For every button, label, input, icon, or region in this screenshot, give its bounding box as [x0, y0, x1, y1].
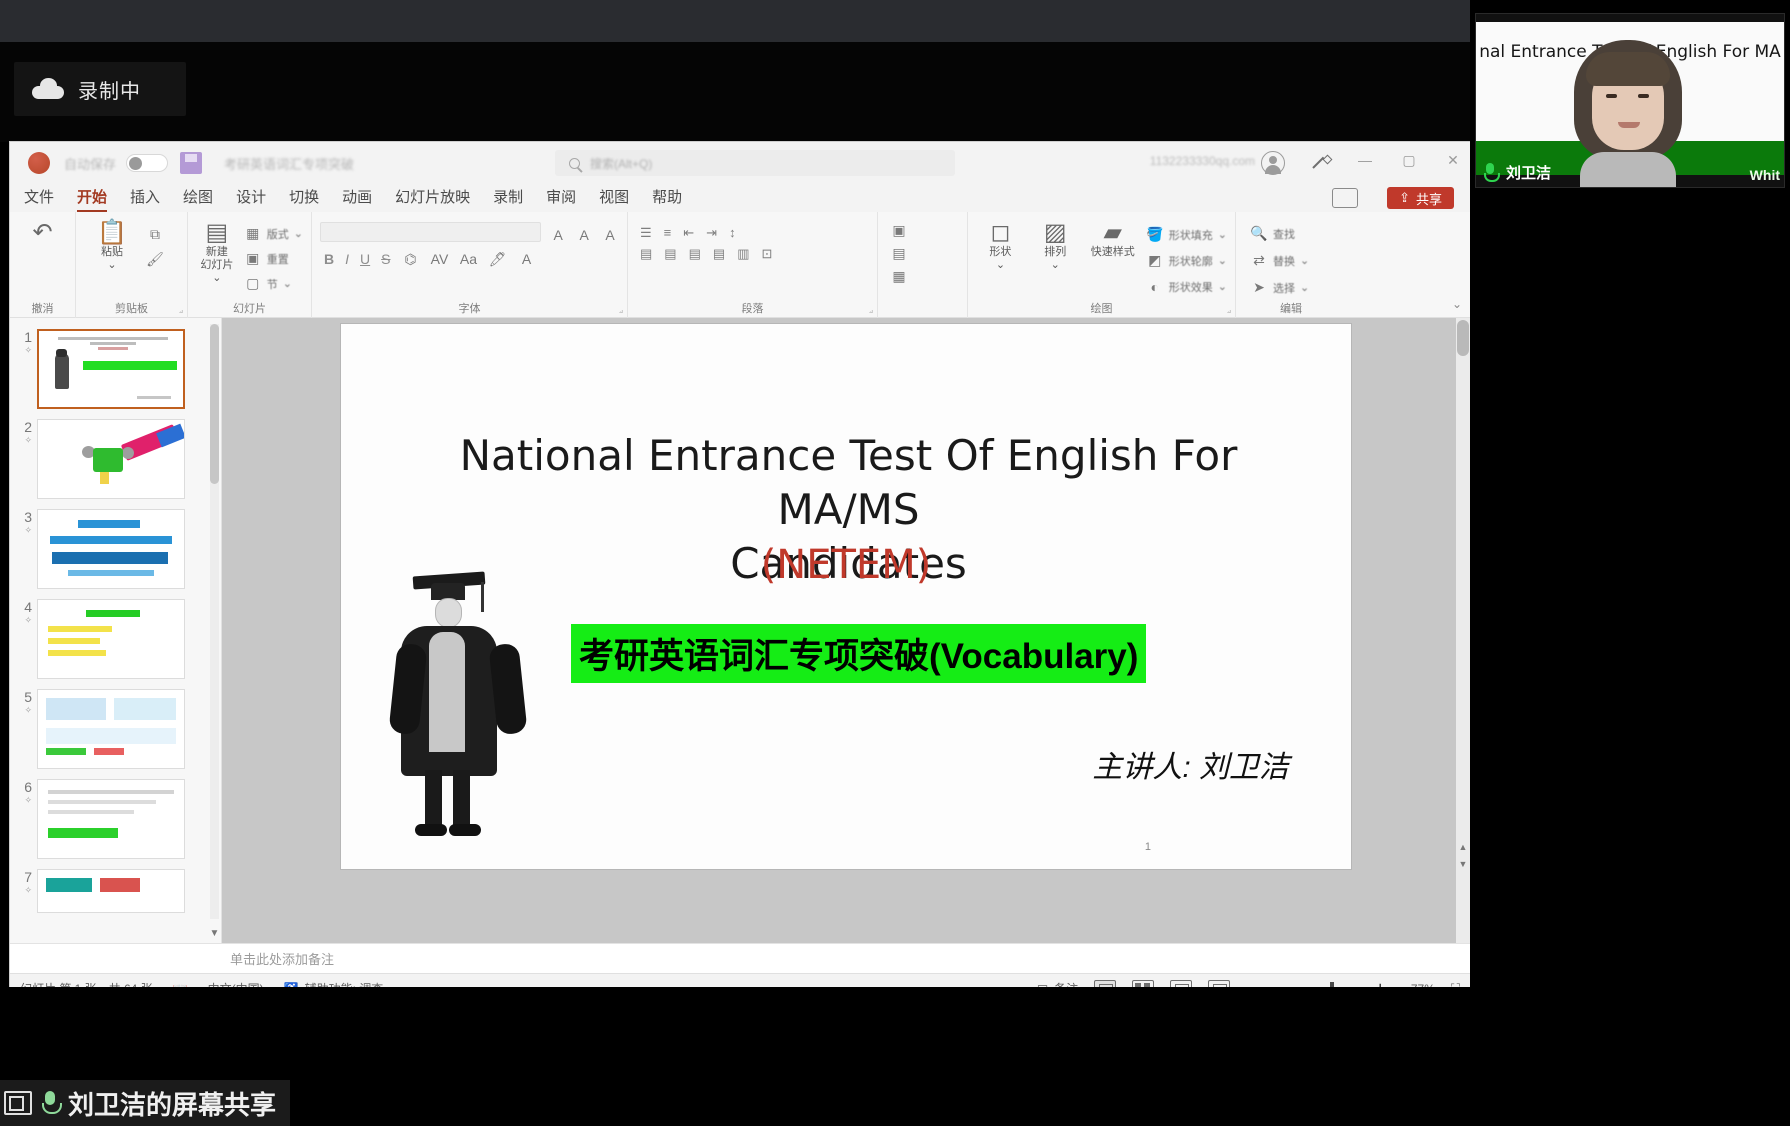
participant-eye-right: [1638, 94, 1649, 98]
slide-title-line1: National Entrance Test Of English For MA…: [401, 429, 1296, 537]
titlebar: 自动保存 考研英语词汇专项突破 搜索(Alt+Q) 1132233330qq.c…: [10, 142, 1470, 184]
canvas-scroll-down-icon[interactable]: ▼: [1457, 859, 1469, 871]
section-button[interactable]: ▢ 节 ⌄: [244, 272, 303, 295]
ribbon-group-text-tools: ▣ ▤ ▦: [878, 212, 968, 318]
cloud-icon: [32, 79, 64, 99]
tab-file[interactable]: 文件: [24, 186, 54, 211]
undo-icon: ↶: [32, 220, 52, 246]
thumbnail-number: 4: [14, 599, 32, 615]
mic-icon: [40, 1090, 60, 1116]
thumbnail-number: 6: [14, 779, 32, 795]
share-icon: ⇪: [1399, 190, 1410, 206]
participant-video-tile[interactable]: nal Entrance Test Of English For MA s 刘卫…: [1475, 13, 1785, 188]
replace-label: 替换: [1273, 253, 1295, 269]
thumb-green-bar: [83, 361, 177, 370]
mic-icon[interactable]: [1482, 162, 1498, 182]
undo-button[interactable]: ↶: [18, 220, 67, 246]
ribbon: ↶ 撤消 📋 粘贴 ⌄ ⧉ 🖌 剪贴板: [10, 212, 1470, 318]
thumb-text-3: [52, 552, 168, 564]
thumb-presenter-line: [137, 396, 171, 399]
thumbnail-preview[interactable]: [37, 419, 185, 499]
desktop-top-strip: [0, 0, 1470, 42]
quick-styles-button[interactable]: ▰ 快速样式: [1086, 220, 1140, 259]
shape-effects-label: 形状效果: [1169, 279, 1213, 295]
tab-review[interactable]: 审阅: [546, 186, 576, 211]
canvas-scroll-buttons: ▲ ▼: [1457, 842, 1469, 871]
thumbnail-number: 1: [14, 329, 32, 345]
ribbon-group-undo: ↶ 撤消: [10, 212, 76, 318]
copy-icon[interactable]: ⧉: [146, 226, 164, 243]
graduate-face: [435, 598, 462, 628]
line-spacing-icon[interactable]: ↕: [729, 225, 736, 240]
graduate-leg-left: [425, 770, 442, 828]
minimize-button[interactable]: —: [1356, 152, 1374, 169]
shape-outline-icon: ◩: [1146, 252, 1164, 269]
shape-outline-button[interactable]: ◩ 形状轮廓 ⌄: [1146, 249, 1227, 272]
pointer-icon: ➤: [1250, 279, 1268, 296]
slide-canvas[interactable]: National Entrance Test Of English For MA…: [341, 324, 1351, 869]
tab-home[interactable]: 开始: [77, 186, 107, 211]
graduate-shoe-left: [415, 824, 447, 836]
thumbnail-animation-icon: ✧: [14, 345, 32, 356]
convert-smartart-icon[interactable]: ▦: [890, 268, 908, 285]
shapes-chevron-down-icon: ⌄: [996, 259, 1005, 272]
account-email: 1132233330qq.com: [1150, 154, 1255, 168]
thumb-teal-chip: [46, 878, 92, 892]
tab-animations[interactable]: 动画: [342, 186, 372, 211]
thumbnail-item-6[interactable]: 6 ✧: [10, 774, 221, 864]
document-name[interactable]: 考研英语词汇专项突破: [224, 154, 354, 173]
thumbnail-item-7[interactable]: 7 ✧: [10, 864, 221, 918]
thumbnail-preview[interactable]: [37, 329, 185, 409]
graduate-shoe-right: [449, 824, 481, 836]
screen-share-icon: [4, 1091, 32, 1115]
thumb-green-chip: [46, 748, 86, 755]
thumb-text-4: [68, 570, 154, 576]
ribbon-group-editing: 🔍 查找 ⇄ 替换 ⌄ ➤ 选择 ⌄ 编辑: [1236, 212, 1346, 318]
thumbnail-number: 5: [14, 689, 32, 705]
layout-label: 版式: [267, 226, 289, 242]
clipboard-dialog-launcher[interactable]: ⟓: [179, 305, 183, 316]
bottom-bar: 刘卫洁的屏幕共享: [0, 1080, 1470, 1126]
ribbon-group-paragraph: ☰ ≡ ⇤ ⇥ ↕ ▤ ▤ ▤ ▤ ▥ ⊡ 段落 ⟓: [628, 212, 878, 318]
bullets-icon[interactable]: ☰: [640, 225, 652, 241]
strikethrough-button[interactable]: S: [381, 251, 390, 267]
participant-name: 刘卫洁: [1506, 162, 1551, 183]
thumb-red-chip: [100, 878, 140, 892]
thumbnail-number: 3: [14, 509, 32, 525]
text-shadow-icon[interactable]: ⌬: [401, 251, 419, 268]
powerpoint-window: 自动保存 考研英语词汇专项突破 搜索(Alt+Q) 1132233330qq.c…: [10, 142, 1470, 987]
powerpoint-logo-icon: [28, 152, 50, 174]
change-case-icon[interactable]: Aa: [459, 251, 477, 267]
layout-icon: ▦: [244, 225, 262, 242]
reset-label: 重置: [267, 251, 289, 267]
canvas-scrollbar-thumb[interactable]: [1457, 320, 1469, 356]
new-slide-button[interactable]: ▤ 新建幻灯片 ⌄: [196, 220, 238, 285]
search-placeholder: 搜索(Alt+Q): [590, 155, 652, 172]
maximize-button[interactable]: ▢: [1400, 152, 1418, 169]
font-size-decrease-icon[interactable]: A: [575, 227, 593, 243]
ribbon-group-clipboard: 📋 粘贴 ⌄ ⧉ 🖌 剪贴板 ⟓: [76, 212, 188, 318]
paste-chevron-down-icon[interactable]: ⌄: [107, 259, 116, 272]
group-label-slides: 幻灯片: [188, 300, 311, 316]
font-color-icon[interactable]: A: [517, 251, 535, 267]
select-button[interactable]: ➤ 选择 ⌄: [1250, 276, 1338, 299]
pen-icon[interactable]: [1310, 153, 1330, 173]
new-slide-label: 新建幻灯片 ⌄: [196, 246, 238, 285]
underline-button[interactable]: U: [360, 251, 370, 267]
quick-styles-icon: ▰: [1103, 220, 1121, 246]
reset-icon: ▣: [244, 250, 262, 267]
tab-view[interactable]: 视图: [599, 186, 629, 211]
thumb-green-title: [86, 610, 140, 617]
replace-icon: ⇄: [1250, 252, 1268, 269]
tab-transitions[interactable]: 切换: [289, 186, 319, 211]
avatar[interactable]: [1261, 151, 1285, 175]
thumbnail-scroll-down-icon[interactable]: ▼: [208, 928, 221, 941]
shape-effects-chevron-down-icon: ⌄: [1218, 280, 1227, 293]
shape-fill-label: 形状填充: [1169, 227, 1213, 243]
shape-fill-button[interactable]: 🪣 形状填充 ⌄: [1146, 223, 1227, 246]
increase-indent-icon[interactable]: ⇥: [706, 225, 717, 241]
columns-icon[interactable]: ▥: [737, 246, 749, 262]
align-right-icon[interactable]: ▤: [689, 246, 701, 262]
thumbnail-item-1[interactable]: 1 ✧: [10, 324, 221, 414]
share-button[interactable]: ⇪ 共享: [1387, 187, 1454, 209]
arrange-icon: ▨: [1044, 220, 1067, 246]
thumb-yellow-2: [48, 638, 100, 644]
thumbnail-item-5[interactable]: 5 ✧: [10, 684, 221, 774]
thumbnail-animation-icon: ✧: [14, 885, 32, 896]
screen-share-label: 刘卫洁的屏幕共享: [68, 1085, 276, 1122]
bold-button[interactable]: B: [324, 251, 334, 267]
graduate-gown-inner: [429, 632, 465, 752]
thumb-block-1: [46, 698, 106, 720]
autosave-toggle[interactable]: [126, 154, 168, 172]
thumbnail-animation-icon: ✧: [14, 795, 32, 806]
thumbnail-item-3[interactable]: 3 ✧: [10, 504, 221, 594]
thumbnail-preview[interactable]: [37, 869, 185, 913]
shapes-button[interactable]: ◻ 形状 ⌄: [976, 220, 1025, 272]
autosave-label: 自动保存: [64, 154, 116, 173]
slide-canvas-area: National Entrance Test Of English For MA…: [222, 318, 1470, 943]
participant-mouth: [1618, 122, 1640, 128]
recording-label: 录制中: [78, 75, 141, 104]
thumb-red-chip: [94, 748, 124, 755]
ribbon-group-drawing: ◻ 形状 ⌄ ▨ 排列 ⌄ ▰ 快速样式 🪣: [968, 212, 1236, 318]
slide-presenter-text[interactable]: 主讲人: 刘卫洁: [1092, 742, 1289, 786]
recording-indicator[interactable]: 录制中: [14, 62, 186, 116]
format-painter-icon[interactable]: 🖌: [146, 251, 164, 268]
thumbnail-number: 7: [14, 869, 32, 885]
thumb-text-2: [50, 536, 172, 544]
section-chevron-down-icon: ⌄: [283, 277, 292, 290]
thumbnail-scrollbar-thumb[interactable]: [210, 324, 219, 484]
thumb-title-lines: [51, 337, 175, 341]
thumb-shape-green: [93, 448, 123, 472]
screen-root: 录制中 自动保存 考研英语词汇专项突破 搜索(Alt+Q) 1132233330…: [0, 0, 1790, 1126]
new-slide-icon: ▤: [206, 220, 229, 246]
group-label-drawing: 绘图: [968, 300, 1235, 316]
tab-record[interactable]: 录制: [493, 186, 523, 211]
thumb-text-1: [78, 520, 140, 528]
align-center-icon[interactable]: ▤: [664, 246, 676, 262]
search-box[interactable]: 搜索(Alt+Q): [555, 150, 955, 176]
close-button[interactable]: ✕: [1444, 152, 1462, 169]
thumb-shape-gray-2: [122, 447, 134, 459]
window-buttons: — ▢ ✕: [1356, 152, 1462, 169]
graduation-tassel: [481, 582, 484, 612]
thumbnail-preview[interactable]: [37, 599, 185, 679]
tab-draw[interactable]: 绘图: [183, 186, 213, 211]
select-label: 选择: [1273, 280, 1295, 296]
shapes-label: 形状: [989, 246, 1011, 259]
layout-chevron-down-icon: ⌄: [294, 227, 303, 240]
find-label: 查找: [1273, 226, 1295, 242]
thumb-line-3: [48, 810, 134, 814]
tab-slideshow[interactable]: 幻灯片放映: [395, 186, 470, 211]
ribbon-group-font: A A A B I U S ⌬ AV Aa 🖊 A 字体 ⟓: [312, 212, 628, 318]
arrange-chevron-down-icon: ⌄: [1051, 259, 1060, 272]
search-icon: [569, 158, 580, 169]
paste-label: 粘贴: [101, 246, 123, 259]
thumb-yellow-3: [48, 650, 106, 656]
screen-share-indicator[interactable]: 刘卫洁的屏幕共享: [0, 1080, 290, 1126]
italic-button[interactable]: I: [345, 251, 349, 267]
clear-formatting-icon[interactable]: A: [601, 227, 619, 243]
thumb-shape-blue: [156, 424, 185, 448]
thumb-line-1: [48, 790, 174, 794]
paste-icon: 📋: [97, 220, 127, 246]
thumbnail-animation-icon: ✧: [14, 525, 32, 536]
lower-black-area: [0, 987, 1470, 1080]
arrange-button[interactable]: ▨ 排列 ⌄: [1031, 220, 1080, 272]
thumbnail-preview[interactable]: [37, 689, 185, 769]
shape-effects-icon: ◐: [1146, 279, 1164, 295]
tab-insert[interactable]: 插入: [130, 186, 160, 211]
thumbnail-preview[interactable]: [37, 779, 185, 859]
arrange-label: 排列: [1044, 246, 1066, 259]
thumbnail-animation-icon: ✧: [14, 435, 32, 446]
thumb-block-3: [46, 728, 176, 744]
thumbnail-animation-icon: ✧: [14, 615, 32, 626]
justify-icon[interactable]: ▤: [713, 246, 725, 262]
text-highlight-icon[interactable]: 🖊: [488, 251, 506, 268]
recording-bar: [0, 42, 1470, 142]
thumb-yellow-1: [48, 626, 112, 632]
select-chevron-down-icon: ⌄: [1300, 281, 1309, 294]
comments-button[interactable]: [1332, 188, 1358, 208]
thumbnail-item-4[interactable]: 4 ✧: [10, 594, 221, 684]
search-icon: 🔍: [1250, 225, 1268, 242]
replace-button[interactable]: ⇄ 替换 ⌄: [1250, 249, 1338, 272]
tab-help[interactable]: 帮助: [652, 186, 682, 211]
thumbnail-item-2[interactable]: 2 ✧: [10, 414, 221, 504]
shape-outline-label: 形状轮廓: [1169, 253, 1213, 269]
graduate-leg-right: [453, 770, 470, 828]
find-button[interactable]: 🔍 查找: [1250, 222, 1338, 245]
shape-fill-icon: 🪣: [1146, 226, 1164, 243]
video-panel: nal Entrance Test Of English For MA s 刘卫…: [1470, 0, 1790, 1126]
shape-outline-chevron-down-icon: ⌄: [1218, 254, 1227, 267]
shape-fill-chevron-down-icon: ⌄: [1218, 228, 1227, 241]
quick-styles-label: 快速样式: [1091, 246, 1135, 259]
thumb-figure: [55, 353, 69, 389]
participant-eye-left: [1606, 94, 1617, 98]
thumbnail-animation-icon: ✧: [14, 705, 32, 716]
video-overlay-tag: Whit: [1750, 167, 1780, 183]
share-label: 共享: [1416, 189, 1442, 208]
thumb-figure-head: [56, 349, 67, 357]
section-label: 节: [267, 276, 278, 292]
thumb-block-2: [114, 698, 176, 720]
tab-design[interactable]: 设计: [236, 186, 266, 211]
decrease-indent-icon[interactable]: ⇤: [683, 225, 694, 241]
align-text-icon[interactable]: ▤: [890, 245, 908, 262]
group-label-undo: 撤消: [10, 300, 75, 316]
canvas-scroll-up-icon[interactable]: ▲: [1457, 842, 1469, 854]
shapes-icon: ◻: [990, 220, 1010, 246]
font-size-increase-icon[interactable]: A: [549, 227, 567, 243]
drawing-dialog-launcher[interactable]: ⟓: [1227, 305, 1231, 316]
thumb-line-2: [48, 800, 156, 804]
slide-thumbnail-panel[interactable]: 1 ✧: [10, 318, 222, 943]
reset-button[interactable]: ▣ 重置: [244, 247, 303, 270]
collapse-ribbon-chevron-up-icon[interactable]: ⌄: [1452, 297, 1462, 311]
work-area: 1 ✧: [10, 318, 1470, 943]
layout-button[interactable]: ▦ 版式 ⌄: [244, 222, 303, 245]
thumbnail-number: 2: [14, 419, 32, 435]
group-label-font: 字体: [312, 300, 627, 316]
thumb-green-chip: [48, 828, 118, 838]
thumb-shape-yellow: [100, 472, 109, 484]
replace-chevron-down-icon: ⌄: [1300, 254, 1309, 267]
font-dialog-launcher[interactable]: ⟓: [619, 305, 623, 316]
group-label-clipboard: 剪贴板: [76, 300, 187, 316]
slide-page-number: 1: [1145, 841, 1151, 853]
ribbon-group-slides: ▤ 新建幻灯片 ⌄ ▦ 版式 ⌄ ▣ 重置: [188, 212, 312, 318]
slide-highlighted-subtitle[interactable]: 考研英语词汇专项突破(Vocabulary): [571, 624, 1146, 683]
save-icon[interactable]: [180, 152, 202, 174]
character-spacing-icon[interactable]: AV: [430, 251, 448, 267]
section-icon: ▢: [244, 275, 262, 292]
text-direction-icon[interactable]: ⊡: [761, 246, 772, 262]
numbering-icon[interactable]: ≡: [664, 225, 672, 240]
paragraph-dialog-launcher[interactable]: ⟓: [869, 305, 873, 316]
paste-button[interactable]: 📋 粘贴 ⌄: [84, 220, 140, 272]
font-name-combo[interactable]: [320, 222, 541, 242]
smartart-icon[interactable]: ▣: [890, 222, 908, 239]
group-label-editing: 编辑: [1236, 300, 1346, 316]
participant-fringe: [1586, 52, 1670, 86]
group-label-paragraph: 段落: [628, 300, 877, 316]
align-left-icon[interactable]: ▤: [640, 246, 652, 262]
notes-pane[interactable]: 单击此处添加备注: [10, 943, 1470, 973]
video-tile-footer: 刘卫洁: [1476, 157, 1784, 187]
notes-placeholder: 单击此处添加备注: [222, 949, 334, 968]
thumbnail-preview[interactable]: [37, 509, 185, 589]
ribbon-tabs: 文件 开始 插入 绘图 设计 切换 动画 幻灯片放映 录制 审阅 视图 帮助 ⇪…: [10, 184, 1470, 212]
graduate-illustration[interactable]: [393, 574, 523, 844]
shape-effects-button[interactable]: ◐ 形状效果 ⌄: [1146, 275, 1227, 298]
